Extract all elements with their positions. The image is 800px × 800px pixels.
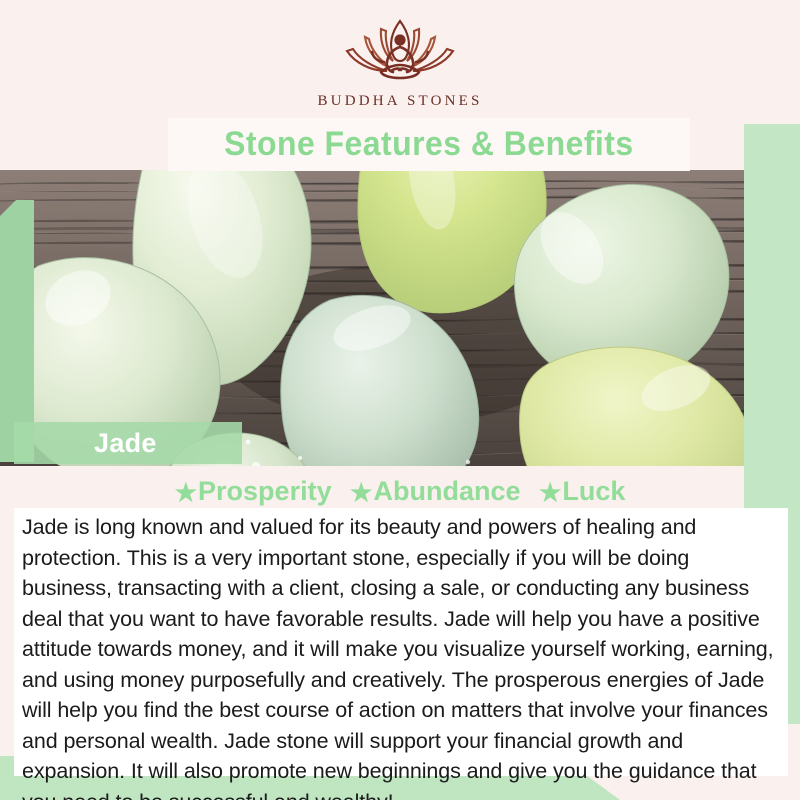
brand-header: BUDDHA STONES bbox=[0, 0, 800, 124]
description-panel: Jade is long known and valued for its be… bbox=[14, 508, 788, 776]
lotus-meditation-icon bbox=[325, 15, 475, 89]
keyword-label: Prosperity bbox=[198, 476, 332, 506]
stone-name-label: Jade bbox=[14, 428, 157, 459]
stone-benefits-poster: Jade bbox=[0, 0, 800, 800]
star-icon: ★ bbox=[175, 478, 197, 508]
brand-name: BUDDHA STONES bbox=[317, 93, 482, 110]
stone-name-tag: Jade bbox=[14, 422, 242, 464]
description-text: Jade is long known and valued for its be… bbox=[14, 508, 788, 800]
page-title: Stone Features & Benefits bbox=[224, 125, 634, 164]
star-icon: ★ bbox=[350, 478, 372, 508]
keyword-label: Abundance bbox=[373, 476, 520, 506]
keyword-item-prosperity: ★Prosperity bbox=[175, 476, 332, 508]
keyword-row: ★Prosperity ★Abundance ★Luck bbox=[0, 476, 800, 508]
section-title-band: Stone Features & Benefits bbox=[168, 118, 690, 171]
keyword-label: Luck bbox=[562, 476, 625, 506]
keyword-item-luck: ★Luck bbox=[539, 476, 625, 508]
keyword-item-abundance: ★Abundance bbox=[350, 476, 520, 508]
star-icon: ★ bbox=[539, 478, 561, 508]
